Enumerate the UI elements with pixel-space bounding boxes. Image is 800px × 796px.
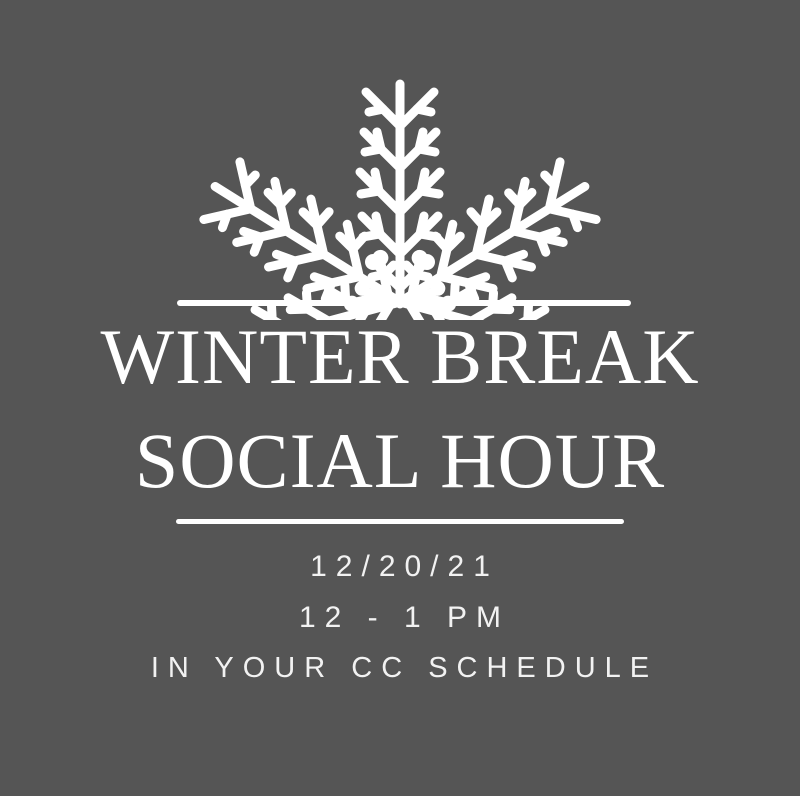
page-title-line-2: SOCIAL HOUR — [0, 422, 800, 500]
snowflake-arm-top — [360, 84, 440, 304]
snowflake-icon — [0, 0, 800, 320]
snowflake-graphic — [0, 0, 800, 320]
poster-canvas: WINTER BREAK SOCIAL HOUR 12/20/21 12 - 1… — [0, 0, 800, 796]
event-time: 12 - 1 PM — [0, 603, 800, 654]
event-date: 12/20/21 — [0, 552, 800, 603]
divider-rule — [176, 519, 624, 524]
headline-block: WINTER BREAK SOCIAL HOUR — [0, 318, 800, 500]
divider-wrapper — [0, 519, 800, 524]
event-location: IN YOUR CC SCHEDULE — [0, 654, 800, 683]
page-title-line-1: WINTER BREAK — [0, 318, 800, 422]
event-details-block: 12/20/21 12 - 1 PM IN YOUR CC SCHEDULE — [0, 552, 800, 683]
